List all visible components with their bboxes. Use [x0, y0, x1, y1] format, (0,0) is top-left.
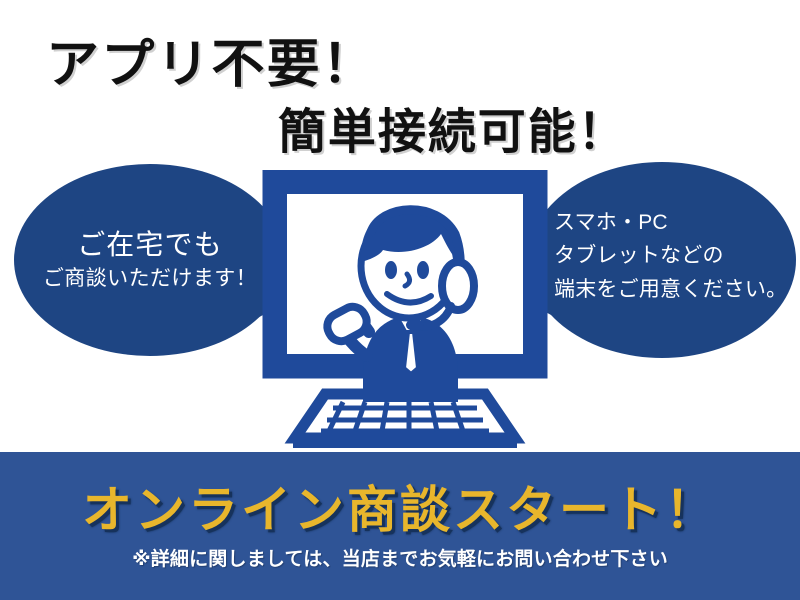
headline-line-1: アプリ不要！ [46, 22, 377, 97]
bubble-left-line-2: ご商談いただけます！ [43, 266, 257, 292]
agent-eye-left [385, 261, 397, 279]
agent-eye-right [417, 261, 429, 279]
bubble-left-line-1: ご在宅でも [77, 228, 223, 262]
laptop-with-headset-agent-illustration [255, 170, 555, 455]
bubble-right-line-1: スマホ・PC [554, 210, 668, 236]
headset-mic [406, 319, 424, 331]
bubble-right-line-3: 端末をご用意ください。 [554, 277, 787, 303]
speech-bubble-right: スマホ・PC タブレットなどの 端末をご用意ください。 [528, 162, 796, 358]
online-meeting-banner: アプリ不要！ 簡単接続可能！ ご在宅でも ご商談いただけます！ スマホ・PC タ… [0, 0, 800, 600]
cta-band: オンライン商談スタート！ ※詳細に関しましては、当店までお気軽にお問い合わせ下さ… [0, 452, 800, 600]
cta-title: オンライン商談スタート！ [0, 470, 800, 542]
bubble-right-line-2: タブレットなどの [554, 243, 724, 269]
agent-tie [404, 332, 418, 374]
headline-line-2: 簡単接続可能！ [278, 92, 627, 162]
keyboard-front-edge [293, 438, 517, 448]
speech-bubble-left: ご在宅でも ご商談いただけます！ [14, 164, 286, 356]
cta-note: ※詳細に関しましては、当店までお気軽にお問い合わせ下さい [0, 544, 800, 571]
headset-earcup [442, 262, 474, 310]
